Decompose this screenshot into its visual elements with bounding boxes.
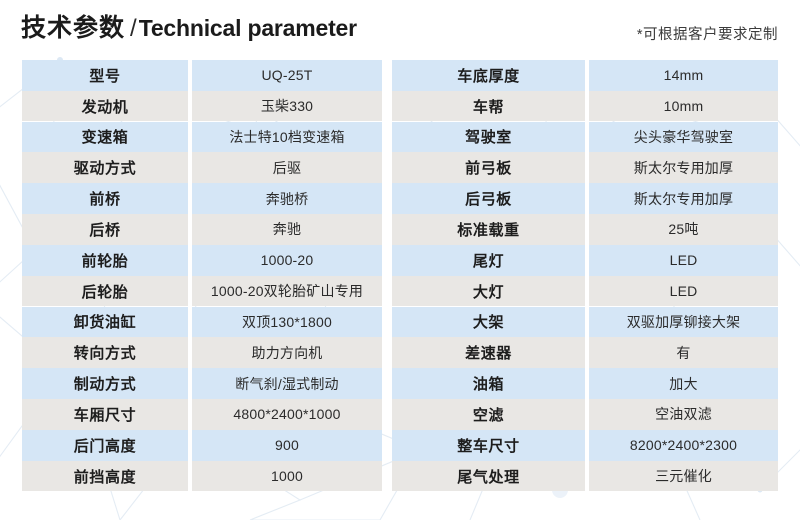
spec-table-left: 型号 UQ-25T 发动机 玉柴330 变速箱 法士特10档变速箱 驱动方式 后… [22, 60, 382, 492]
spec-label: 发动机 [22, 91, 188, 122]
spec-label: 前桥 [22, 183, 188, 214]
table-row: 前挡高度 1000 [22, 461, 382, 492]
spec-label: 后门高度 [22, 430, 188, 461]
spec-label: 前弓板 [392, 152, 585, 183]
table-row: 型号 UQ-25T [22, 60, 382, 91]
table-row: 大灯 LED [392, 276, 778, 307]
spec-value: UQ-25T [192, 60, 382, 91]
spec-value: 玉柴330 [192, 91, 382, 122]
spec-value: 斯太尔专用加厚 [589, 183, 778, 214]
table-row: 后弓板 斯太尔专用加厚 [392, 183, 778, 214]
spec-label: 后桥 [22, 214, 188, 245]
table-row: 发动机 玉柴330 [22, 91, 382, 122]
table-row: 转向方式 助力方向机 [22, 337, 382, 368]
table-row: 后门高度 900 [22, 430, 382, 461]
spec-value: 三元催化 [589, 461, 778, 492]
table-row: 大架 双驱加厚铆接大架 [392, 307, 778, 338]
table-row: 标准载重 25吨 [392, 214, 778, 245]
table-row: 尾灯 LED [392, 245, 778, 276]
table-row: 后轮胎 1000-20双轮胎矿山专用 [22, 276, 382, 307]
spec-label: 尾气处理 [392, 461, 585, 492]
page-title-separator: / [125, 15, 139, 42]
specification-tables: 型号 UQ-25T 发动机 玉柴330 变速箱 法士特10档变速箱 驱动方式 后… [0, 58, 800, 493]
spec-value: 双驱加厚铆接大架 [589, 307, 778, 338]
table-row: 前轮胎 1000-20 [22, 245, 382, 276]
spec-value: 900 [192, 430, 382, 461]
table-row: 变速箱 法士特10档变速箱 [22, 122, 382, 153]
spec-label: 空滤 [392, 399, 585, 430]
spec-value: 1000-20双轮胎矿山专用 [192, 276, 382, 307]
table-row: 后桥 奔驰 [22, 214, 382, 245]
spec-value: 空油双滤 [589, 399, 778, 430]
spec-value: 奔驰 [192, 214, 382, 245]
spec-label: 后弓板 [392, 183, 585, 214]
spec-value: 14mm [589, 60, 778, 91]
page-title-cn: 技术参数 [21, 14, 125, 42]
table-row: 车底厚度 14mm [392, 60, 778, 91]
spec-value: 尖头豪华驾驶室 [589, 122, 778, 153]
spec-label: 尾灯 [392, 245, 585, 276]
spec-value: 25吨 [589, 214, 778, 245]
spec-table-right: 车底厚度 14mm 车帮 10mm 驾驶室 尖头豪华驾驶室 前弓板 斯太尔专用加… [392, 60, 778, 492]
spec-value: 法士特10档变速箱 [192, 122, 382, 153]
spec-label: 差速器 [392, 337, 585, 368]
spec-label: 驱动方式 [22, 152, 188, 183]
table-row: 制动方式 断气刹/湿式制动 [22, 368, 382, 399]
spec-label: 前轮胎 [22, 245, 188, 276]
spec-label: 驾驶室 [392, 122, 585, 153]
spec-label: 型号 [22, 60, 188, 91]
spec-value: LED [589, 245, 778, 276]
spec-value: 8200*2400*2300 [589, 430, 778, 461]
table-row: 空滤 空油双滤 [392, 399, 778, 430]
table-row: 尾气处理 三元催化 [392, 461, 778, 492]
spec-label: 大架 [392, 307, 585, 338]
spec-label: 车底厚度 [392, 60, 585, 91]
spec-value: 助力方向机 [192, 337, 382, 368]
table-row: 卸货油缸 双顶130*1800 [22, 307, 382, 338]
page-title-en: Technical parameter [139, 15, 357, 41]
spec-label: 大灯 [392, 276, 585, 307]
spec-label: 前挡高度 [22, 461, 188, 492]
table-row: 车厢尺寸 4800*2400*1000 [22, 399, 382, 430]
table-row: 差速器 有 [392, 337, 778, 368]
spec-label: 变速箱 [22, 122, 188, 153]
spec-value: 10mm [589, 91, 778, 122]
spec-value: 后驱 [192, 152, 382, 183]
spec-value: 奔驰桥 [192, 183, 382, 214]
spec-value: 有 [589, 337, 778, 368]
customization-note: *可根据客户要求定制 [637, 23, 778, 44]
spec-label: 标准载重 [392, 214, 585, 245]
table-row: 整车尺寸 8200*2400*2300 [392, 430, 778, 461]
table-row: 前弓板 斯太尔专用加厚 [392, 152, 778, 183]
spec-value: 双顶130*1800 [192, 307, 382, 338]
table-row: 车帮 10mm [392, 91, 778, 122]
spec-label: 车厢尺寸 [22, 399, 188, 430]
spec-value: LED [589, 276, 778, 307]
page-header: 技术参数/Technical parameter *可根据客户要求定制 [0, 0, 800, 58]
spec-value: 斯太尔专用加厚 [589, 152, 778, 183]
table-row: 驾驶室 尖头豪华驾驶室 [392, 122, 778, 153]
spec-value: 4800*2400*1000 [192, 399, 382, 430]
page-title: 技术参数/Technical parameter [21, 11, 357, 46]
table-row: 驱动方式 后驱 [22, 152, 382, 183]
spec-value: 加大 [589, 368, 778, 399]
spec-label: 制动方式 [22, 368, 188, 399]
spec-label: 油箱 [392, 368, 585, 399]
spec-label: 后轮胎 [22, 276, 188, 307]
spec-value: 1000 [192, 461, 382, 492]
table-row: 油箱 加大 [392, 368, 778, 399]
spec-label: 卸货油缸 [22, 307, 188, 338]
spec-label: 整车尺寸 [392, 430, 585, 461]
spec-label: 车帮 [392, 91, 585, 122]
spec-value: 断气刹/湿式制动 [192, 368, 382, 399]
spec-value: 1000-20 [192, 245, 382, 276]
table-row: 前桥 奔驰桥 [22, 183, 382, 214]
spec-label: 转向方式 [22, 337, 188, 368]
